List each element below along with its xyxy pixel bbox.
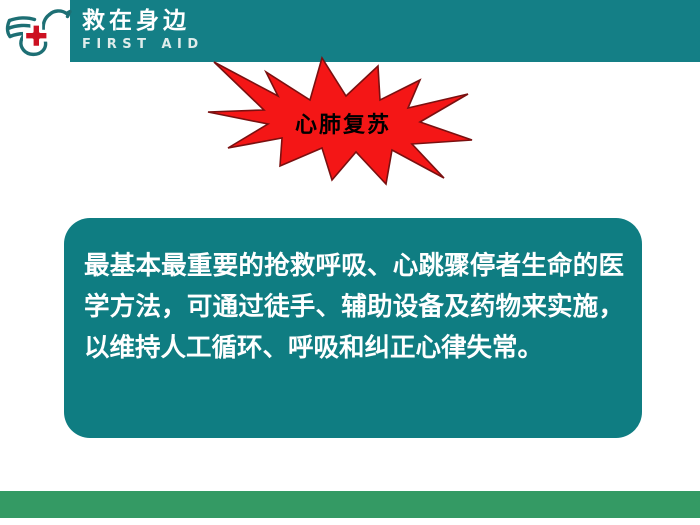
slide-canvas: 救在身边 FIRST AID 心肺复苏 最基本最重要的抢救呼吸、心跳骤停者生命的…	[0, 0, 700, 525]
starburst-title: 心肺复苏	[206, 56, 474, 186]
brand-name-en: FIRST AID	[82, 36, 282, 54]
brand-name-cn: 救在身边	[82, 6, 282, 36]
brand-lockup: 救在身边 FIRST AID	[82, 6, 282, 58]
dove-red-cross-logo-icon	[4, 4, 74, 62]
footer-bar	[0, 491, 700, 518]
body-paragraph: 最基本最重要的抢救呼吸、心跳骤停者生命的医学方法，可通过徒手、辅助设备及药物来实…	[84, 246, 624, 369]
